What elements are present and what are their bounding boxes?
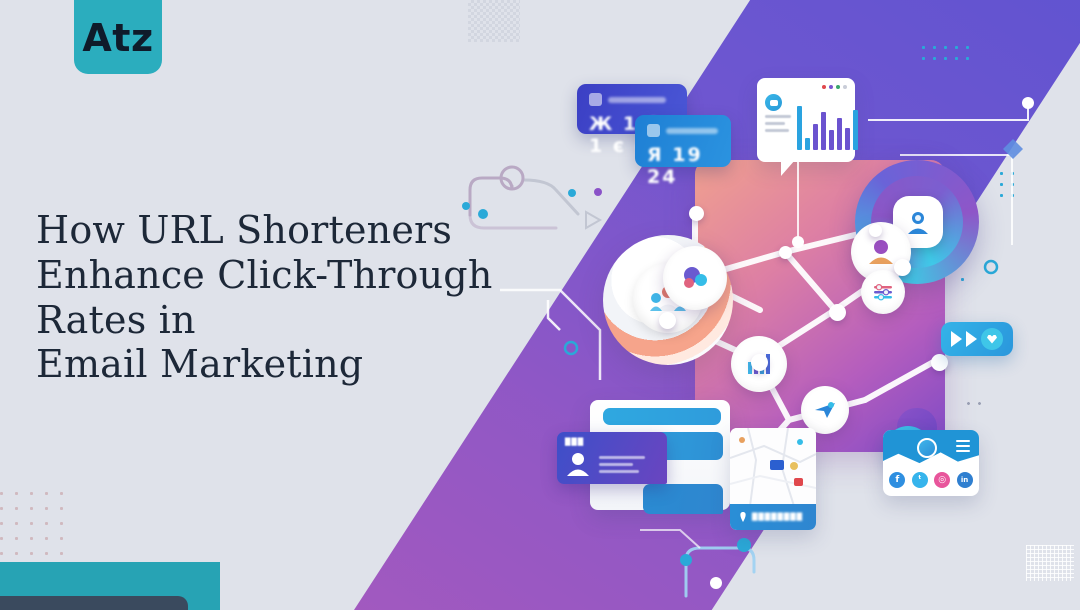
text-line: [765, 115, 791, 118]
notification-card-blue[interactable]: Я 19 24: [635, 115, 731, 167]
fast-forward-pill[interactable]: [941, 322, 1013, 356]
chat-bubble-bottom[interactable]: [643, 484, 723, 514]
chart-connector-stem: [797, 162, 799, 238]
location-map-card[interactable]: ████████: [730, 428, 816, 530]
chart-card-tail: [781, 160, 795, 176]
facebook-icon[interactable]: f: [889, 472, 905, 488]
analytics-chart-card[interactable]: [757, 78, 855, 162]
network-dot: [894, 259, 911, 276]
map-footer-text: ████████: [752, 513, 803, 521]
pin-icon: [738, 512, 748, 522]
network-node-settings[interactable]: [861, 270, 905, 314]
profile-card-header: ███: [565, 438, 659, 446]
network-dot: [931, 354, 948, 371]
person-icon: [565, 451, 591, 477]
instagram-icon[interactable]: ◎: [934, 472, 950, 488]
card-header-blur: [608, 97, 666, 103]
window-dot-green: [836, 85, 840, 89]
text-line: [765, 129, 789, 132]
chart-card-sidebar: [765, 94, 791, 150]
window-dot-purple: [829, 85, 833, 89]
dot-grid-cyan-top: [918, 42, 974, 62]
chat-bubble-icon: [765, 94, 782, 111]
window-dot-gray: [843, 85, 847, 89]
sliders-icon: [872, 283, 894, 301]
bar-3: [813, 124, 818, 150]
checker-grid-decor: [468, 0, 520, 42]
network-dot: [829, 304, 846, 321]
user-profile-icon: [904, 208, 932, 236]
network-node-chat[interactable]: [663, 246, 727, 310]
navy-block-decor: [0, 596, 188, 610]
globe-icon: [917, 438, 937, 458]
social-share-card[interactable]: f ᵗ ◎ in: [883, 430, 979, 496]
network-dot: [779, 246, 792, 259]
card-chip-icon: [647, 124, 660, 137]
brand-logo[interactable]: Atz: [74, 0, 162, 74]
map-card-footer: ████████: [730, 504, 816, 530]
bar-1: [797, 106, 802, 150]
window-dots: [765, 85, 847, 89]
bar-8: [853, 110, 858, 150]
user-avatar-icon: [866, 238, 896, 266]
grid-decor-bottomright: [1026, 545, 1074, 581]
map-surface: [730, 428, 816, 506]
email-send-icon: [813, 400, 837, 420]
heart-icon: [981, 328, 1003, 350]
linkedin-icon[interactable]: in: [957, 472, 973, 488]
poster-canvas: Atz How URL Shorteners Enhance Click-Thr…: [0, 0, 1080, 610]
network-dot: [689, 206, 704, 221]
chat-cluster-icon: [681, 266, 709, 290]
network-dot: [751, 354, 768, 371]
network-node-email[interactable]: [801, 386, 849, 434]
map-roads: [730, 428, 816, 506]
bar-6: [837, 118, 842, 150]
network-dot: [659, 312, 676, 329]
bar-2: [805, 138, 810, 150]
hero-illustration: Ж 1 0 1 є с Я 19 24: [545, 60, 1045, 530]
bar-5: [829, 130, 834, 150]
chat-profile-card[interactable]: ███: [557, 432, 667, 484]
page-title: How URL Shorteners Enhance Click-Through…: [36, 208, 576, 387]
card-chip-icon: [589, 93, 602, 106]
window-dot-red: [822, 85, 826, 89]
brand-logo-text: Atz: [82, 16, 153, 60]
text-line: [765, 122, 785, 125]
chat-bubble-top[interactable]: [603, 408, 721, 425]
card-header-blur: [666, 128, 718, 134]
play-triangle-icon: [966, 331, 977, 347]
menu-icon[interactable]: [956, 440, 970, 455]
bar-7: [845, 128, 850, 150]
social-icons-row: f ᵗ ◎ in: [883, 472, 979, 488]
bar-4: [821, 112, 826, 150]
twitter-icon[interactable]: ᵗ: [912, 472, 928, 488]
bar-chart: [797, 102, 858, 150]
notification-value-blue: Я 19 24: [647, 144, 719, 188]
network-dot: [869, 224, 882, 237]
play-triangle-icon: [951, 331, 962, 347]
